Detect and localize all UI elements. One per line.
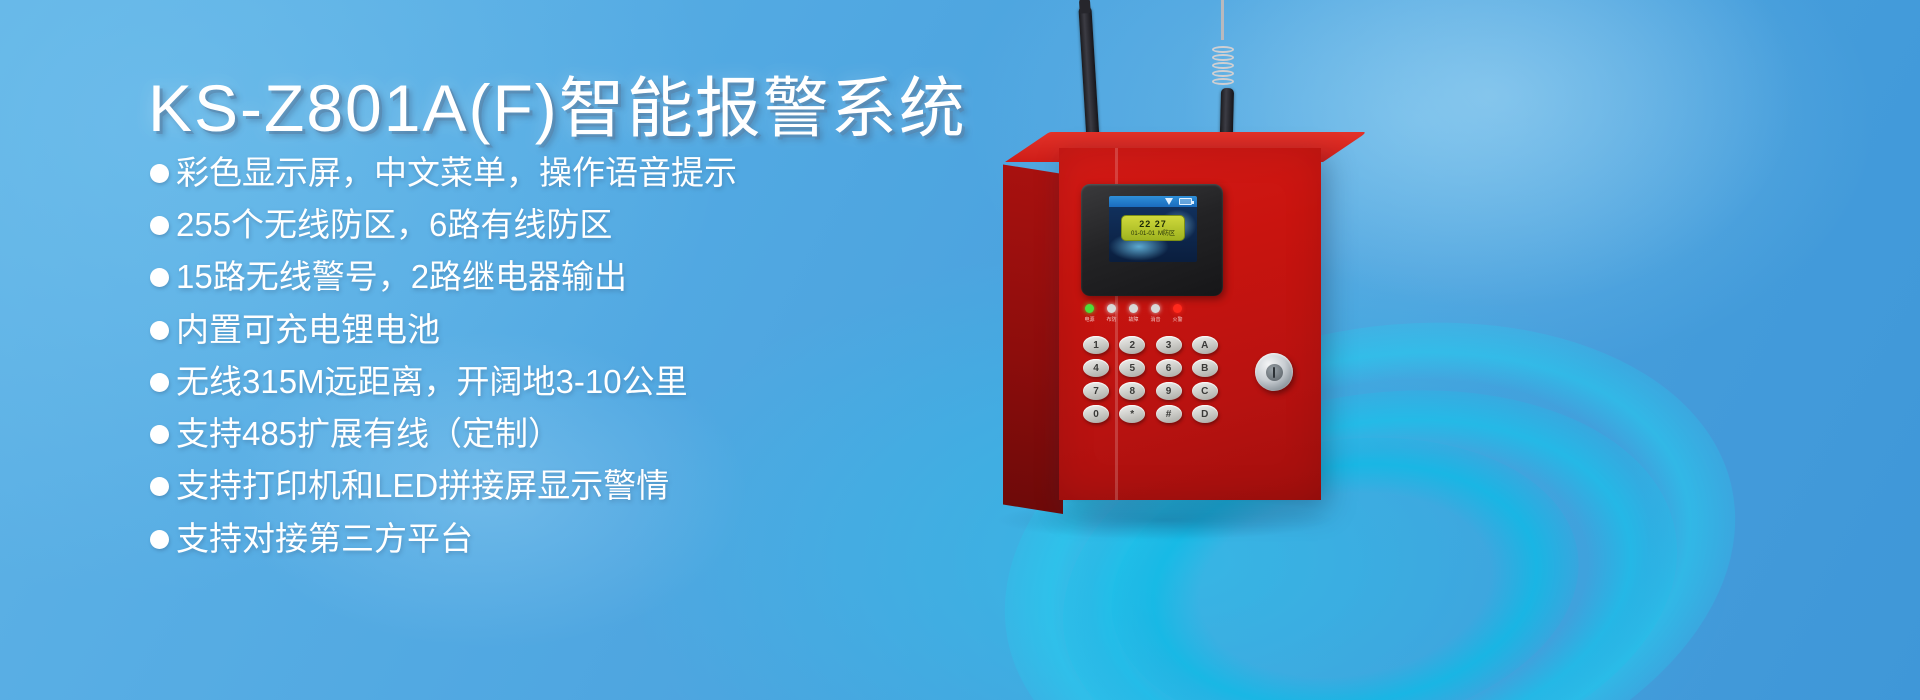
status-led-icon (1151, 304, 1160, 313)
antenna-tip (1079, 0, 1091, 14)
filled-circle-bullet-icon (150, 373, 169, 392)
led-indicator: 火警 (1173, 304, 1182, 313)
led-label: 火警 (1173, 316, 1183, 323)
coil-ring (1212, 70, 1234, 77)
feature-text: 彩色显示屏，中文菜单，操作语音提示 (176, 152, 737, 194)
feature-text: 无线315M远距离，开阔地3-10公里 (176, 361, 688, 403)
keypad-key[interactable]: C (1192, 382, 1218, 400)
page-title: KS-Z801A(F)智能报警系统 (148, 55, 967, 151)
list-item: 无线315M远距离，开阔地3-10公里 (150, 361, 940, 403)
lock-keyhole (1266, 364, 1283, 381)
list-item: 支持485扩展有线（定制） (150, 413, 940, 455)
feature-text: 内置可充电锂电池 (176, 309, 440, 351)
keypad-key[interactable]: 4 (1083, 359, 1109, 377)
keypad-key[interactable]: 5 (1119, 359, 1145, 377)
coil-ring (1212, 54, 1234, 61)
lcd-info-box: 22 27 01-01-01 M防区 (1121, 215, 1185, 241)
feature-text: 15路无线警号，2路继电器输出 (176, 256, 627, 298)
list-item: 内置可充电锂电池 (150, 309, 940, 351)
list-item: 255个无线防区，6路有线防区 (150, 204, 940, 246)
lcd-status-text: M防区 (1158, 231, 1175, 237)
keypad-key[interactable]: 2 (1119, 336, 1145, 354)
led-indicator: 故障 (1129, 304, 1138, 313)
led-label: 电源 (1085, 316, 1095, 323)
alarm-led-icon (1173, 304, 1182, 313)
text-content-block: KS-Z801A(F)智能报警系统 彩色显示屏，中文菜单，操作语音提示 255个… (0, 0, 960, 700)
battery-icon (1179, 198, 1192, 205)
coil-ring (1212, 62, 1234, 69)
filled-circle-bullet-icon (150, 530, 169, 549)
lcd-time: 22 27 (1139, 220, 1167, 229)
list-item: 支持对接第三方平台 (150, 518, 940, 560)
keypad-key[interactable]: 3 (1156, 336, 1182, 354)
signal-icon (1165, 198, 1173, 205)
status-led-icon (1107, 304, 1116, 313)
antenna-wire (1221, 0, 1224, 40)
filled-circle-bullet-icon (150, 268, 169, 287)
feature-text: 255个无线防区，6路有线防区 (176, 204, 612, 246)
antenna-coil-icon (1212, 18, 1234, 96)
filled-circle-bullet-icon (150, 216, 169, 235)
keypad-key[interactable]: 1 (1083, 336, 1109, 354)
keypad-key[interactable]: * (1119, 405, 1145, 423)
feature-text: 支持485扩展有线（定制） (176, 413, 561, 455)
filled-circle-bullet-icon (150, 477, 169, 496)
coil-ring (1212, 78, 1234, 85)
lock-icon[interactable] (1255, 353, 1293, 391)
led-indicator: 布防 (1107, 304, 1116, 313)
keypad[interactable]: 1 2 3 A 4 5 6 B 7 8 9 C 0 * # D (1083, 336, 1221, 423)
keypad-key[interactable]: B (1192, 359, 1218, 377)
keypad-key[interactable]: 7 (1083, 382, 1109, 400)
list-item: 15路无线警号，2路继电器输出 (150, 256, 940, 298)
status-led-icon (1129, 304, 1138, 313)
feature-list: 彩色显示屏，中文菜单，操作语音提示 255个无线防区，6路有线防区 15路无线警… (150, 152, 940, 570)
lcd-screen[interactable]: 22 27 01-01-01 M防区 (1109, 196, 1197, 262)
panel-front-face: 22 27 01-01-01 M防区 电源 (1059, 148, 1321, 500)
panel-enclosure: 22 27 01-01-01 M防区 电源 (1003, 148, 1323, 510)
filled-circle-bullet-icon (150, 425, 169, 444)
led-indicator: 电源 (1085, 304, 1094, 313)
keypad-key[interactable]: 9 (1156, 382, 1182, 400)
filled-circle-bullet-icon (150, 321, 169, 340)
keypad-key[interactable]: # (1156, 405, 1182, 423)
keypad-key[interactable]: 0 (1083, 405, 1109, 423)
feature-text: 支持对接第三方平台 (176, 518, 473, 560)
led-label: 故障 (1129, 316, 1139, 323)
display-bezel: 22 27 01-01-01 M防区 (1081, 184, 1223, 296)
product-banner: KS-Z801A(F)智能报警系统 彩色显示屏，中文菜单，操作语音提示 255个… (0, 0, 1920, 700)
list-item: 彩色显示屏，中文菜单，操作语音提示 (150, 152, 940, 194)
coil-ring (1212, 46, 1234, 53)
led-indicator: 消音 (1151, 304, 1160, 313)
panel-side-face (1003, 164, 1063, 514)
filled-circle-bullet-icon (150, 164, 169, 183)
list-item: 支持打印机和LED拼接屏显示警情 (150, 465, 940, 507)
keypad-key[interactable]: 8 (1119, 382, 1145, 400)
lcd-status-bar (1109, 196, 1197, 207)
led-label: 布防 (1107, 316, 1117, 323)
led-label: 消音 (1151, 316, 1161, 323)
feature-text: 支持打印机和LED拼接屏显示警情 (176, 465, 669, 507)
keypad-key[interactable]: 6 (1156, 359, 1182, 377)
power-led-icon (1085, 304, 1094, 313)
lcd-date: 01-01-01 (1131, 231, 1155, 237)
keypad-key[interactable]: A (1192, 336, 1218, 354)
led-indicator-row: 电源 布防 故障 消音 (1085, 304, 1217, 313)
keypad-key[interactable]: D (1192, 405, 1218, 423)
lcd-subline: 01-01-01 M防区 (1131, 231, 1175, 237)
alarm-panel-device: 22 27 01-01-01 M防区 电源 (975, 0, 1920, 700)
